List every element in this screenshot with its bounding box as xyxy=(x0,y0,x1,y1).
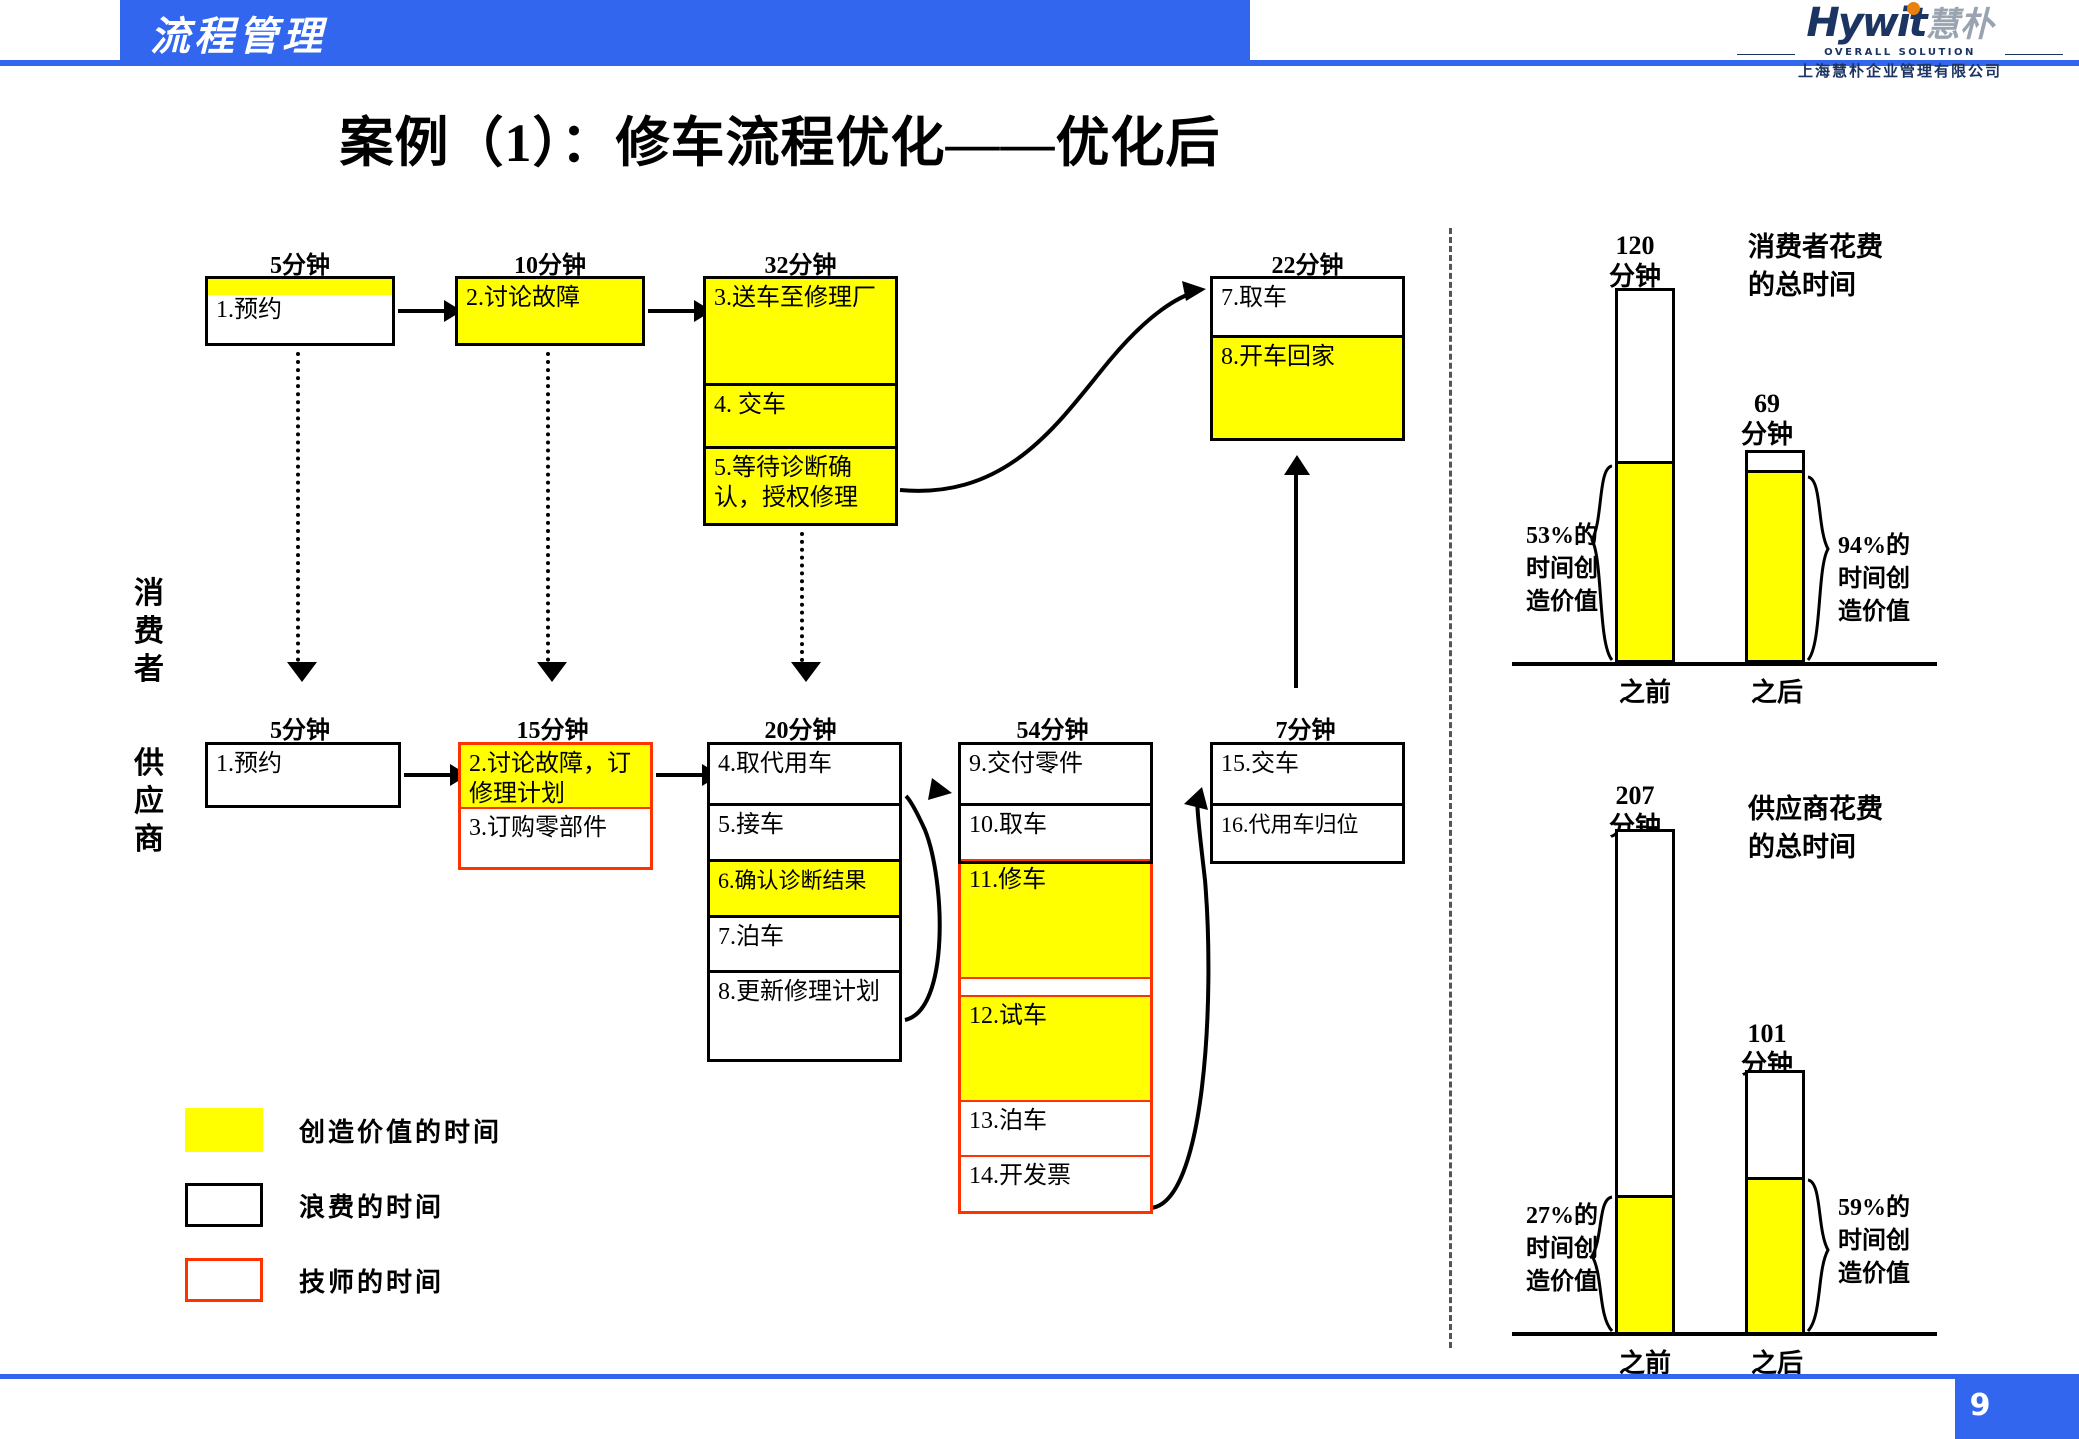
bar-value-fill-after xyxy=(1748,1177,1802,1332)
legend-label: 浪费的时间 xyxy=(299,1187,444,1224)
company-logo: Hywit慧朴 OVERALL SOLUTION 上海慧朴企业管理有限公司 xyxy=(1735,2,2065,81)
duration-consumer-1: 5分钟 xyxy=(205,245,395,280)
chart-title: 供应商花费 的总时间 xyxy=(1748,790,2038,866)
process-step-label: 1.预约 xyxy=(208,745,398,805)
process-step-label: 4.取代用车 xyxy=(710,745,899,803)
legend-item-technician-time: 技师的时间 xyxy=(185,1255,502,1305)
logo-orange-dot-icon xyxy=(1907,2,1920,15)
process-gap-white xyxy=(961,977,1150,995)
dotted-arrow-consumer-2-to-supplier-2 xyxy=(546,352,554,662)
header-section-title: 流程管理 xyxy=(150,4,326,62)
process-step-label: 13.泊车 xyxy=(961,1100,1150,1155)
process-step-label: 3.送车至修理厂 xyxy=(706,279,895,383)
bar-category-before: 之前 xyxy=(1580,672,1710,709)
process-step-label: 12.试车 xyxy=(961,995,1150,1100)
process-step-label: 9.交付零件 xyxy=(961,745,1150,803)
process-step-label: 14.开发票 xyxy=(961,1155,1150,1209)
process-step-label: 7.泊车 xyxy=(710,915,899,970)
logo-wordmark: Hywit慧朴 xyxy=(1806,2,1993,46)
duration-consumer-2: 10分钟 xyxy=(455,245,645,280)
process-step-label: 5.接车 xyxy=(710,803,899,859)
pct-label-before: 53%的 时间创 造价值 xyxy=(1508,520,1598,619)
process-box-supplier-2[interactable]: 2.讨论故障，订修理计划 3.订购零部件 xyxy=(458,742,653,870)
process-step-label: 15.交车 xyxy=(1213,745,1402,803)
arrow-supplier-to-consumer-up xyxy=(1284,455,1310,475)
duration-supplier-1: 5分钟 xyxy=(205,710,395,745)
pct-label-after: 59%的 时间创 造价值 xyxy=(1838,1192,1938,1291)
logo-chinese-text: 慧朴 xyxy=(1926,5,1994,45)
legend-label: 创造价值的时间 xyxy=(299,1112,502,1149)
process-box-supplier-4[interactable]: 9.交付零件 10.取车 11.修车 12.试车 13.泊车 14.开发票 xyxy=(958,742,1153,1214)
process-step-label: 1.预约 xyxy=(208,279,392,325)
lane-label-consumer: 消费者 xyxy=(128,575,170,689)
dotted-arrow-consumer-1-to-supplier-1 xyxy=(296,352,304,662)
bar-after xyxy=(1745,450,1805,663)
process-box-supplier-5[interactable]: 15.交车 16.代用车归位 xyxy=(1210,742,1405,864)
process-step-label: 8.开车回家 xyxy=(1213,335,1402,438)
legend-swatch-yellow-icon xyxy=(185,1108,263,1152)
process-box-supplier-3[interactable]: 4.取代用车 5.接车 6.确认诊断结果 7.泊车 8.更新修理计划 xyxy=(707,742,902,1062)
footer-rule xyxy=(0,1374,2079,1379)
legend-item-value-time: 创造价值的时间 xyxy=(185,1105,502,1155)
process-box-consumer-3[interactable]: 3.送车至修理厂 4. 交车 5.等待诊断确认，授权修理 xyxy=(703,276,898,526)
bar-value-fill-after xyxy=(1748,470,1802,660)
process-step-label: 10.取车 xyxy=(961,803,1150,859)
process-step-label: 16.代用车归位 xyxy=(1213,803,1402,861)
process-step-label: 2.讨论故障，订修理计划 xyxy=(461,745,650,807)
page-number: 9 xyxy=(1955,1388,2005,1423)
legend-item-waste-time: 浪费的时间 xyxy=(185,1180,502,1230)
logo-tagline: OVERALL SOLUTION xyxy=(1735,47,2065,58)
process-box-supplier-1[interactable]: 1.预约 xyxy=(205,742,401,808)
duration-supplier-4: 54分钟 xyxy=(955,710,1150,745)
process-step-label: 7.取车 xyxy=(1213,279,1402,335)
legend-swatch-red-outline-icon xyxy=(185,1258,263,1302)
bar-after xyxy=(1745,1070,1805,1335)
duration-consumer-4: 22分钟 xyxy=(1210,245,1405,280)
process-step-label: 4. 交车 xyxy=(706,383,895,446)
process-box-consumer-1[interactable]: 1.预约 xyxy=(205,276,395,346)
chart-baseline xyxy=(1512,662,1937,666)
process-step-label: 8.更新修理计划 xyxy=(710,970,899,1059)
pct-label-after: 94%的 时间创 造价值 xyxy=(1838,530,1938,629)
chart-title: 消费者花费 的总时间 xyxy=(1748,228,2038,304)
process-box-consumer-2[interactable]: 2.讨论故障 xyxy=(455,276,645,346)
legend-swatch-black-outline-icon xyxy=(185,1183,263,1227)
duration-supplier-2: 15分钟 xyxy=(455,710,650,745)
duration-consumer-3: 32分钟 xyxy=(703,245,898,280)
lane-label-supplier: 供应商 xyxy=(128,745,170,859)
page-title: 案例（1）：修车流程优化——优化后 xyxy=(0,98,1560,177)
legend: 创造价值的时间 浪费的时间 技师的时间 xyxy=(185,1105,502,1330)
arrow-supplier-1-to-2 xyxy=(404,773,466,777)
process-box-consumer-4[interactable]: 7.取车 8.开车回家 xyxy=(1210,276,1405,441)
bar-value-label-before: 120 分钟 xyxy=(1580,230,1690,292)
pct-label-before: 27%的 时间创 造价值 xyxy=(1508,1200,1598,1299)
process-step-label: 11.修车 xyxy=(961,859,1150,977)
header-band-notch xyxy=(0,0,120,60)
duration-supplier-3: 20分钟 xyxy=(703,710,898,745)
duration-supplier-5: 7分钟 xyxy=(1208,710,1403,745)
bar-before xyxy=(1615,288,1675,663)
section-divider xyxy=(1449,228,1452,1348)
legend-label: 技师的时间 xyxy=(299,1262,444,1299)
bar-value-fill-before xyxy=(1618,1195,1672,1332)
process-step-label: 6.确认诊断结果 xyxy=(710,859,899,915)
process-step-label: 3.订购零部件 xyxy=(461,807,650,867)
arrow-supplier-to-consumer-line xyxy=(1294,473,1298,688)
logo-company-name: 上海慧朴企业管理有限公司 xyxy=(1735,60,2065,81)
process-step-label: 5.等待诊断确认，授权修理 xyxy=(706,446,895,523)
chart-baseline xyxy=(1512,1332,1937,1336)
arrow-consumer-1-to-2 xyxy=(398,309,460,313)
bar-value-label-after: 69 分钟 xyxy=(1712,388,1822,450)
process-step-label: 2.讨论故障 xyxy=(458,279,642,343)
bar-value-fill-before xyxy=(1618,461,1672,660)
arrow-consumer-2-to-3 xyxy=(648,309,710,313)
bar-before xyxy=(1615,829,1675,1335)
bar-category-after: 之后 xyxy=(1712,672,1842,709)
dotted-arrow-consumer-3-to-supplier-3 xyxy=(800,532,808,662)
